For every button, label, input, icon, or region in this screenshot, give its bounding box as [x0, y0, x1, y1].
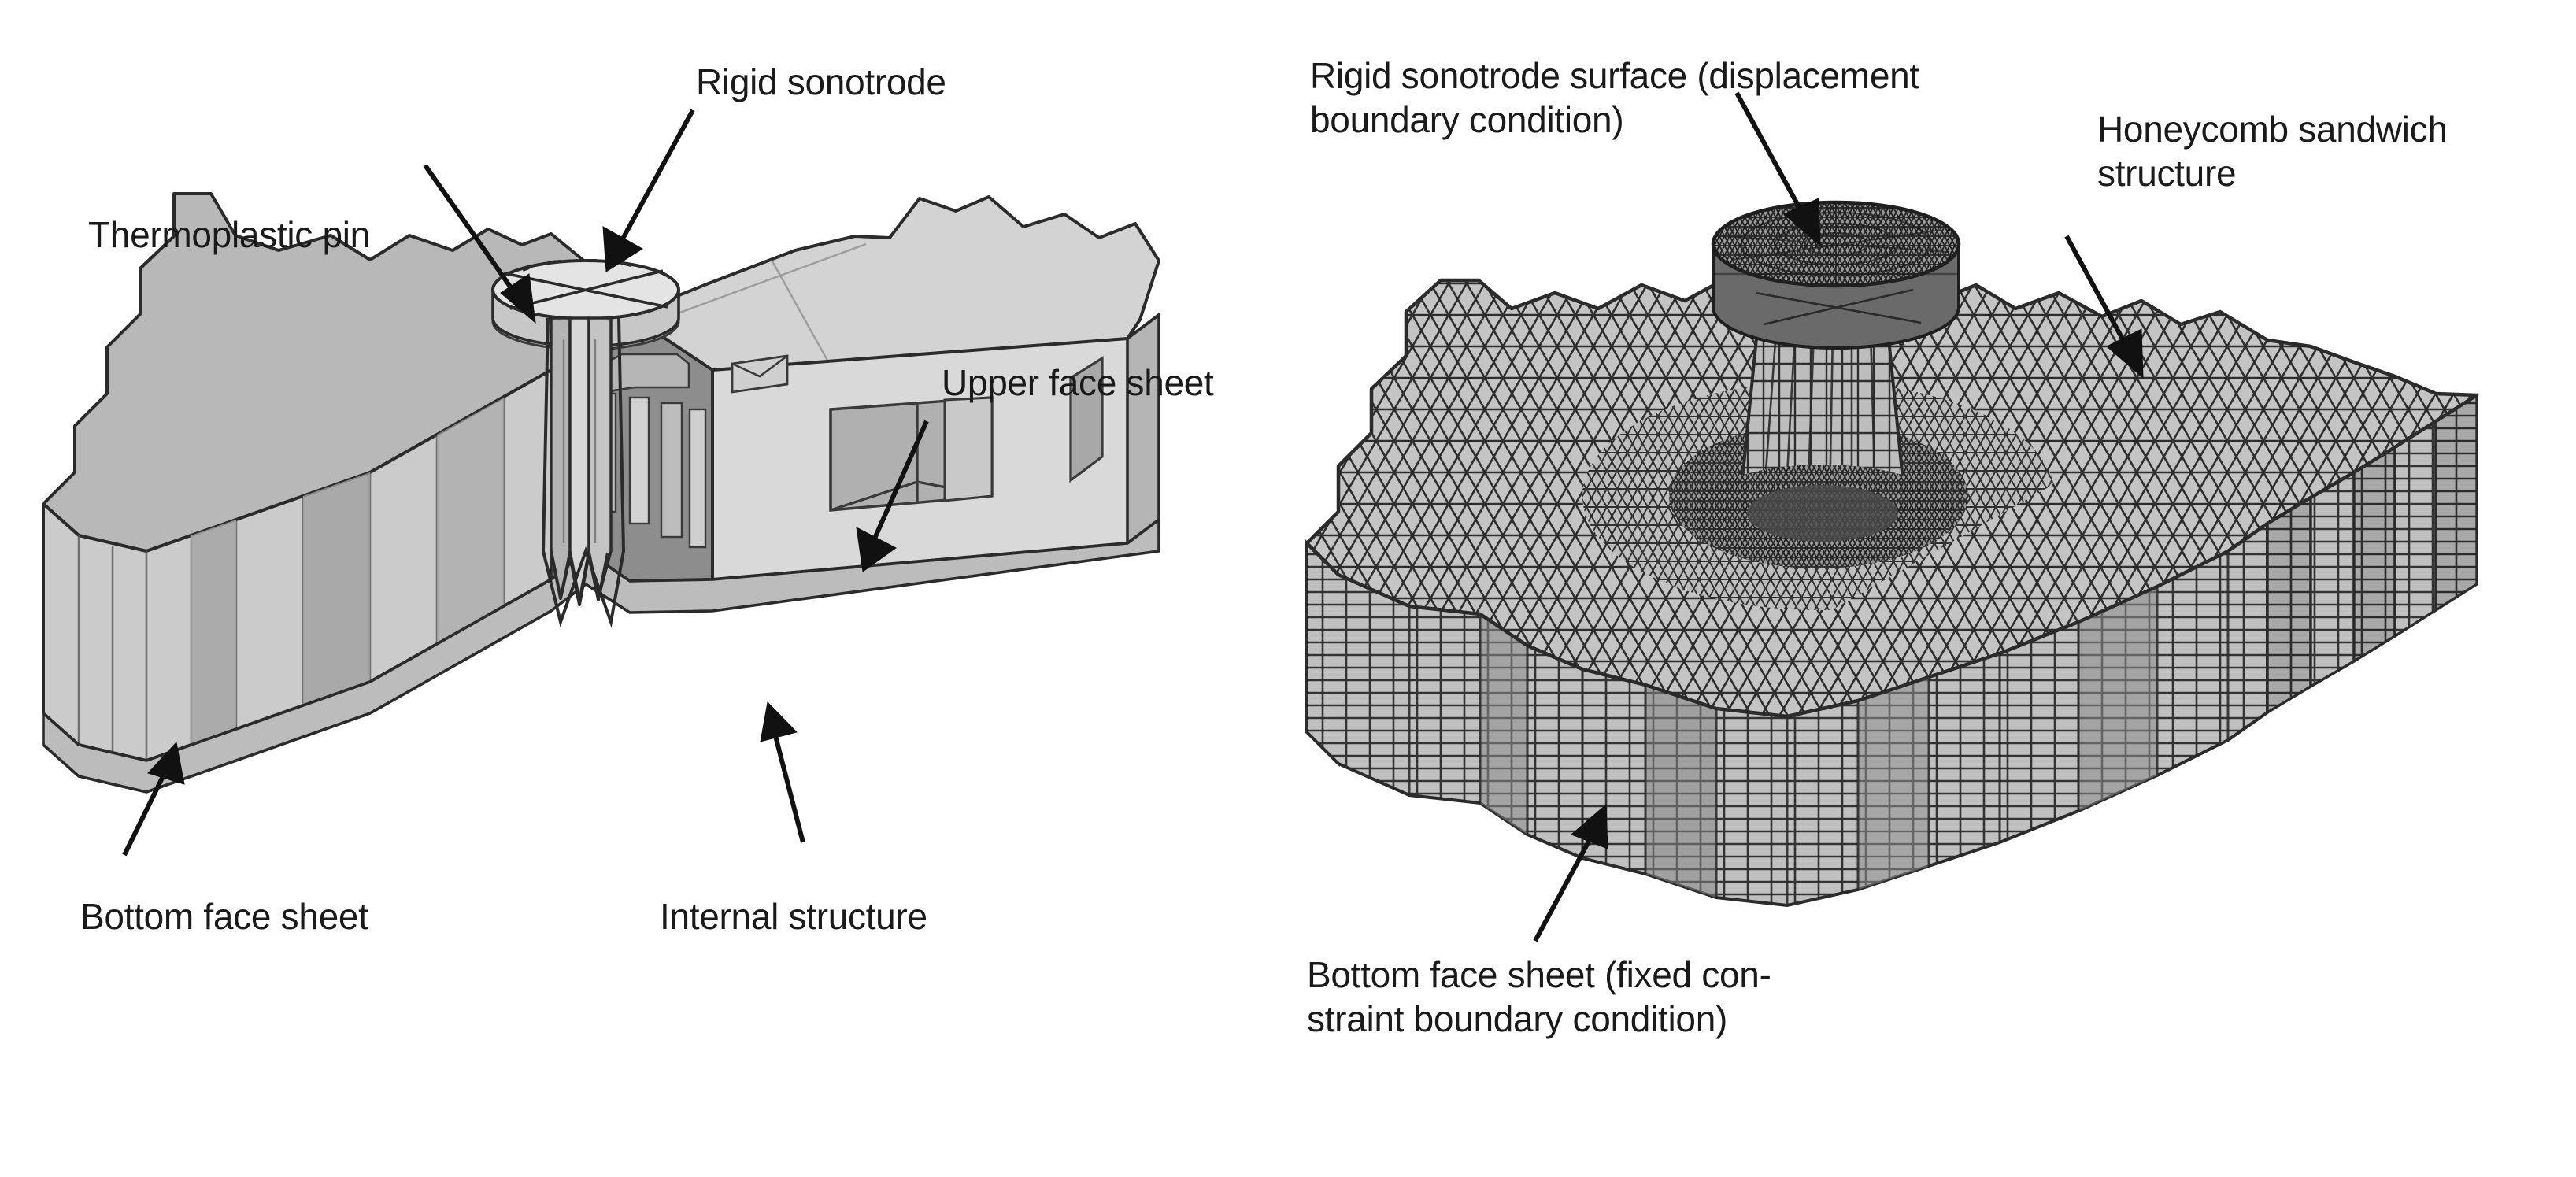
side-wall-right-3 [2354, 447, 2395, 661]
label-bottom-face-sheet-mesh-line1: Bottom face sheet (fixed con- [1307, 954, 1771, 997]
label-bottom-face-sheet: Bottom face sheet [80, 896, 368, 938]
label-honeycomb-sandwich-line2: structure [2097, 153, 2236, 195]
arrow-line-sonotrode-surface [1737, 93, 1803, 214]
side-wall-right-1 [2267, 498, 2311, 712]
label-upper-face-sheet: Upper face sheet [942, 362, 1214, 405]
side-wall-right-4 [2395, 421, 2436, 636]
label-bottom-face-sheet-mesh-line2: straint boundary condition) [1307, 998, 1727, 1041]
label-internal-structure: Internal structure [660, 896, 927, 938]
arrow-line-bottom-face-sheet-mesh [1535, 838, 1590, 941]
pin-base-melt-core [1747, 485, 1898, 542]
label-rigid-sonotrode: Rigid sonotrode [696, 61, 946, 104]
side-wall-right-2 [2311, 472, 2354, 687]
figure-root: Rigid sonotrode Thermoplastic pin Upper … [0, 0, 2576, 1177]
label-rigid-sonotrode-surface-line2: boundary condition) [1310, 99, 1623, 142]
side-wall-right-5 [2436, 395, 2477, 610]
label-honeycomb-sandwich-line1: Honeycomb sandwich [2097, 109, 2448, 151]
label-thermoplastic-pin: Thermoplastic pin [88, 214, 370, 257]
label-rigid-sonotrode-surface-line1: Rigid sonotrode surface (displacement [1310, 55, 1919, 98]
